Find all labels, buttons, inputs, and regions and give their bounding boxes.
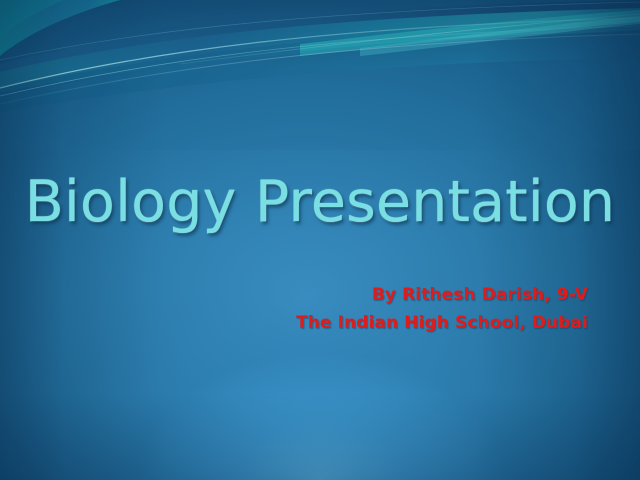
subtitle-container: By Rithesh Darish, 9-V The Indian High S… <box>0 281 640 337</box>
title-container: Biology Presentation <box>0 172 640 234</box>
subtitle-line-institution: The Indian High School, Dubai <box>0 309 588 337</box>
presentation-title-slide: Biology Presentation By Rithesh Darish, … <box>0 0 640 480</box>
slide-title: Biology Presentation <box>25 172 616 234</box>
subtitle-line-author: By Rithesh Darish, 9-V <box>0 281 588 309</box>
slide-background-gradient <box>0 0 640 480</box>
